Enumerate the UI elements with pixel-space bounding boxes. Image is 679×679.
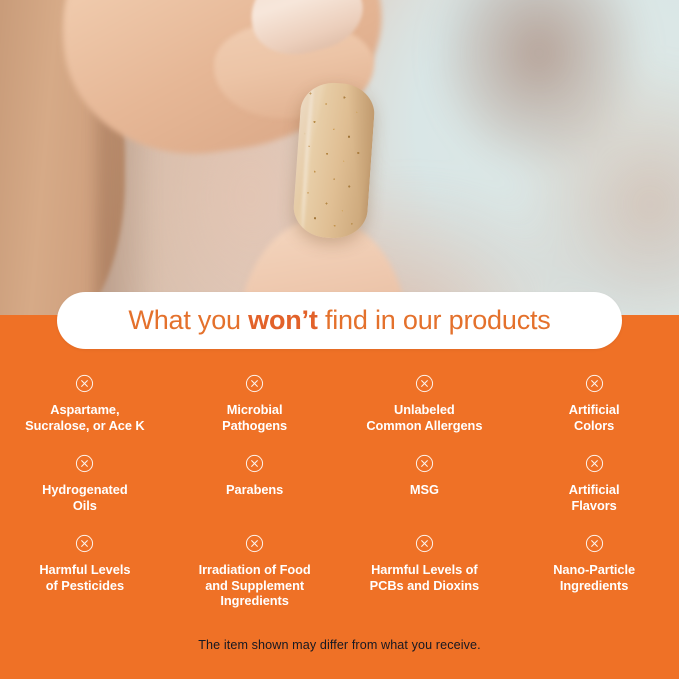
exclusion-label: Artificial Colors <box>569 402 620 433</box>
exclusion-label: Artificial Flavors <box>569 482 620 513</box>
exclusion-label: Microbial Pathogens <box>222 402 287 433</box>
exclusion-item: Harmful Levels of PCBs and Dioxins <box>340 534 510 609</box>
x-circle-icon <box>415 534 434 553</box>
x-circle-icon <box>585 534 604 553</box>
disclaimer-text: The item shown may differ from what you … <box>0 638 679 652</box>
exclusion-label: Hydrogenated Oils <box>42 482 127 513</box>
exclusion-label: Harmful Levels of Pesticides <box>39 562 130 593</box>
x-circle-icon <box>585 374 604 393</box>
exclusion-item: Irradiation of Food and Supplement Ingre… <box>170 534 340 609</box>
exclusion-label: Aspartame, Sucralose, or Ace K <box>25 402 144 433</box>
product-infographic: What you won’t find in our products Aspa… <box>0 0 679 679</box>
exclusion-item: Harmful Levels of Pesticides <box>0 534 170 609</box>
exclusion-item: Unlabeled Common Allergens <box>340 374 510 433</box>
exclusion-label: Irradiation of Food and Supplement Ingre… <box>199 562 311 609</box>
exclusion-item: MSG <box>340 454 510 513</box>
exclusion-label: MSG <box>410 482 439 498</box>
x-circle-icon <box>585 454 604 473</box>
exclusion-item: Nano-Particle Ingredients <box>509 534 679 609</box>
exclusion-item: Hydrogenated Oils <box>0 454 170 513</box>
hero-photo <box>0 0 679 318</box>
exclusion-item: Microbial Pathogens <box>170 374 340 433</box>
exclusion-label: Nano-Particle Ingredients <box>553 562 635 593</box>
exclusion-label: Parabens <box>226 482 283 498</box>
headline-emphasis: won’t <box>248 305 317 335</box>
x-circle-icon <box>75 454 94 473</box>
headline-prefix: What you <box>128 305 248 335</box>
x-circle-icon <box>415 374 434 393</box>
headline-suffix: find in our products <box>318 305 551 335</box>
exclusion-item: Artificial Colors <box>509 374 679 433</box>
page-title: What you won’t find in our products <box>128 305 550 336</box>
x-circle-icon <box>245 454 264 473</box>
x-circle-icon <box>75 374 94 393</box>
exclusion-row-2: Hydrogenated Oils Parabens MSG Artificia… <box>0 454 679 513</box>
x-circle-icon <box>415 454 434 473</box>
x-circle-icon <box>245 374 264 393</box>
exclusion-label: Harmful Levels of PCBs and Dioxins <box>370 562 479 593</box>
exclusion-row-3: Harmful Levels of Pesticides Irradiation… <box>0 534 679 609</box>
exclusion-label: Unlabeled Common Allergens <box>366 402 482 433</box>
exclusion-item: Aspartame, Sucralose, or Ace K <box>0 374 170 433</box>
x-circle-icon <box>75 534 94 553</box>
headline-pill: What you won’t find in our products <box>57 292 622 349</box>
x-circle-icon <box>245 534 264 553</box>
exclusion-item: Artificial Flavors <box>509 454 679 513</box>
supplement-tablet <box>292 81 377 241</box>
exclusion-row-1: Aspartame, Sucralose, or Ace K Microbial… <box>0 374 679 433</box>
exclusion-item: Parabens <box>170 454 340 513</box>
